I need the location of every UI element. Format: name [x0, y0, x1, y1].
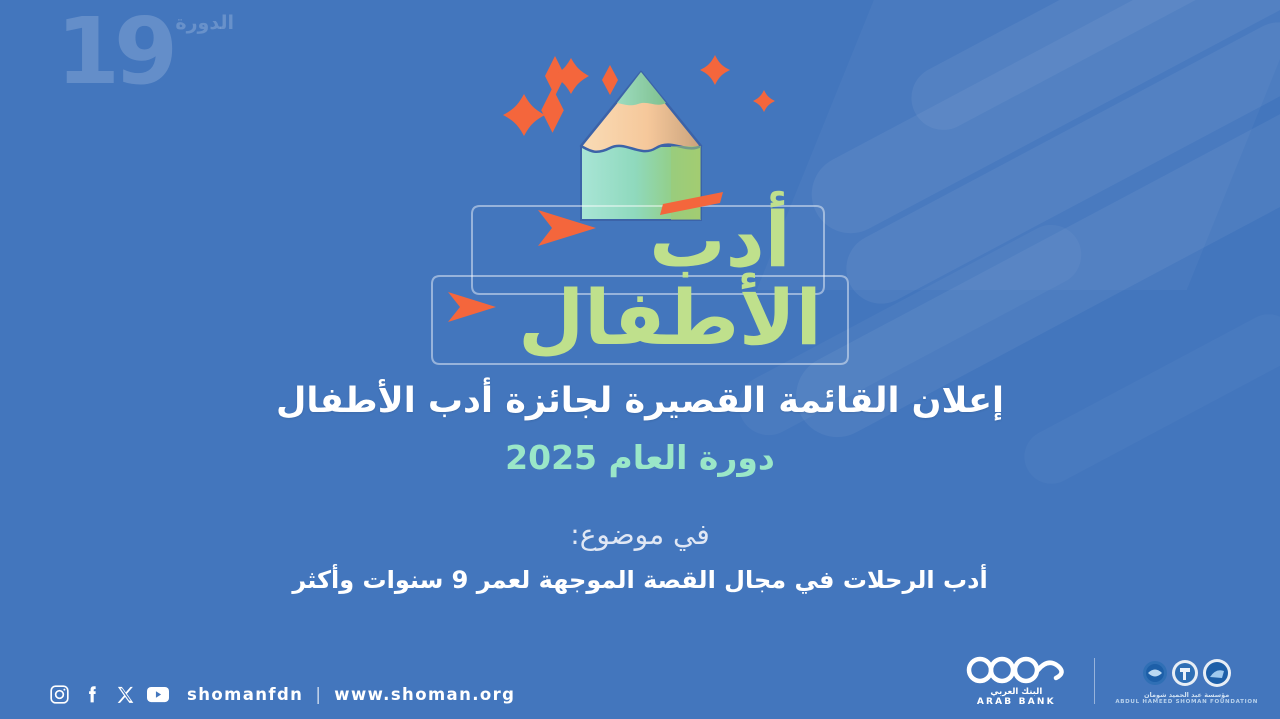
paper-plane-icon: [448, 292, 496, 322]
topic-label: في موضوع:: [0, 518, 1280, 551]
svg-text:الأطفال: الأطفال: [518, 272, 821, 362]
x-twitter-icon[interactable]: [114, 683, 136, 705]
logo-word-adab: أدب: [538, 190, 791, 284]
award-logo: أدب الأطفال: [420, 34, 860, 374]
arab-bank-name-en: ARAB BANK: [977, 697, 1056, 707]
footer-social-bar: shomanfdn | www.shoman.org: [48, 683, 515, 705]
topic-text: أدب الرحلات في مجال القصة الموجهة لعمر 9…: [0, 566, 1280, 594]
facebook-icon[interactable]: [81, 683, 103, 705]
background-stripe: [900, 0, 1280, 141]
sponsor-divider: [1094, 658, 1095, 704]
background-stripe: [798, 0, 1280, 247]
youtube-icon[interactable]: [147, 683, 169, 705]
shoman-foundation-logo: مؤسسة عبد الحميد شومان ABDUL HAMEED SHOM…: [1115, 658, 1258, 705]
social-handle[interactable]: shomanfdn: [187, 685, 303, 704]
edition-number: 19: [56, 6, 172, 98]
page-title: إعلان القائمة القصيرة لجائزة أدب الأطفال: [0, 378, 1280, 424]
shoman-name-en: ABDUL HAMEED SHOMAN FOUNDATION: [1115, 699, 1258, 705]
edition-badge: 19 الدورة: [44, 4, 234, 100]
headline-block: إعلان القائمة القصيرة لجائزة أدب الأطفال…: [0, 378, 1280, 477]
shoman-name-ar: مؤسسة عبد الحميد شومان: [1144, 691, 1229, 699]
footer-sponsors: البنك العربي ARAB BANK مؤسسة عبد الحميد: [958, 655, 1258, 707]
footer-contact: shomanfdn | www.shoman.org: [187, 685, 515, 704]
edition-label: الدورة: [175, 12, 234, 34]
arab-bank-logo: البنك العربي ARAB BANK: [958, 655, 1074, 707]
instagram-icon[interactable]: [48, 683, 70, 705]
poster-canvas: 19 الدورة: [0, 0, 1280, 719]
arab-bank-name-ar: البنك العربي: [990, 687, 1042, 697]
page-subtitle: دورة العام 2025: [0, 438, 1280, 477]
background-stripe: [834, 10, 1280, 316]
footer-separator: |: [315, 685, 322, 704]
logo-word-atfal: الأطفال: [448, 272, 822, 362]
website-url[interactable]: www.shoman.org: [334, 685, 515, 704]
topic-block: في موضوع: أدب الرحلات في مجال القصة المو…: [0, 518, 1280, 594]
